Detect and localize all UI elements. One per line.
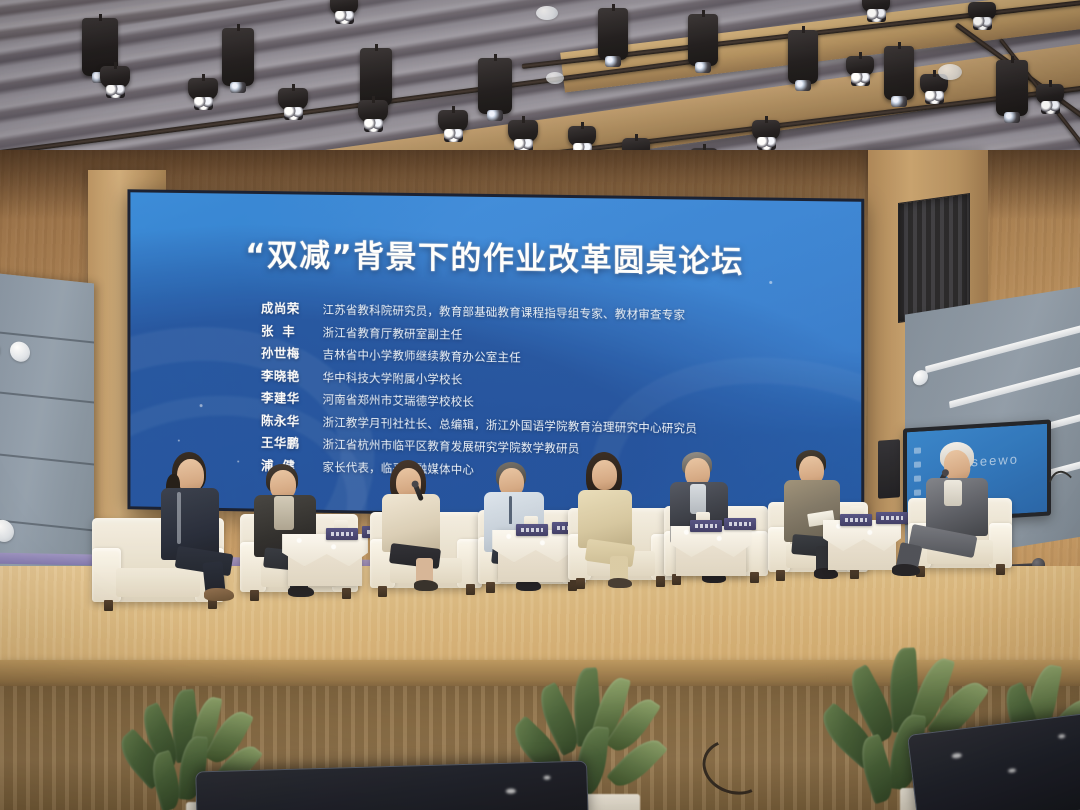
shoe [892, 564, 920, 576]
panelist-figure-1 [150, 452, 246, 604]
chair-foot [342, 588, 351, 599]
stage-light-moving-head [360, 48, 392, 106]
stage-light-par [846, 56, 874, 78]
acoustic-strip [949, 362, 1080, 408]
stage-light-moving-head [222, 28, 254, 86]
stage-light-moving-head [788, 30, 818, 84]
panelist-figure-3 [374, 460, 466, 596]
desktop-icon [914, 461, 921, 467]
side-table [288, 534, 362, 586]
name-card [724, 518, 756, 530]
panelist-name: 陈永华 [261, 410, 323, 430]
jacket-stripe [177, 492, 181, 544]
name-card [326, 528, 358, 540]
shirt-collar [274, 496, 294, 530]
stage-light-par [568, 126, 596, 148]
stage-light-moving-head [884, 46, 914, 100]
shoe [608, 578, 632, 588]
desktop-icon [914, 447, 921, 453]
panelist-affiliation: 华中科技大学附属小学校长 [323, 369, 463, 387]
desktop-icon [914, 475, 921, 481]
panelist-affiliation: 浙江省杭州市临平区教育发展研究学院数学教研员 [323, 436, 580, 456]
torso [382, 494, 440, 552]
panelist-affiliation: 江苏省教科院研究员，教育部基础教育课程指导组专家、教材审查专家 [323, 301, 686, 322]
shoe [414, 580, 438, 591]
side-table [828, 520, 896, 570]
stage-light-par [188, 78, 218, 102]
panelist-affiliation: 河南省郑州市艾瑞德学校校长 [323, 391, 475, 409]
acoustic-strip [925, 322, 1080, 373]
shoe [204, 588, 234, 601]
stage-light-moving-head [996, 60, 1028, 116]
chair-foot [466, 584, 475, 595]
stage-light-moving-head [598, 8, 628, 60]
stage-light-par [358, 100, 388, 124]
panelist-name: 孙世梅 [261, 342, 323, 362]
panelist-name: 成尚荣 [261, 298, 323, 318]
panelist-figure-8-speaking [922, 442, 1032, 576]
acoustic-disc [913, 369, 928, 386]
ceiling-downlight [546, 72, 564, 84]
panelist-name: 李建华 [261, 387, 323, 407]
stage-light-par [862, 0, 890, 14]
side-table [676, 526, 746, 576]
stage-light-par [508, 120, 538, 144]
wall-vent-grille [898, 193, 970, 323]
ceiling-downlight [536, 6, 558, 20]
wall-speaker [878, 439, 900, 499]
panelist-affiliation: 吉林省中小学教师继续教育办公室主任 [323, 346, 521, 365]
torso [578, 490, 632, 548]
lanyard [509, 496, 512, 524]
panelist-name: 王华鹏 [261, 432, 323, 452]
ceiling-downlight [938, 64, 962, 80]
desktop-icon [914, 489, 921, 495]
name-card [690, 520, 722, 532]
panelist-name: 张丰 [261, 320, 323, 340]
head [592, 460, 617, 490]
name-card [876, 512, 908, 524]
stage-light-par [330, 0, 358, 16]
name-card [516, 524, 548, 536]
stage-light-par [100, 66, 130, 90]
stage-light-par [438, 110, 468, 134]
panelist-figure-5 [570, 452, 660, 588]
panelist-name: 李晓艳 [261, 365, 323, 385]
name-card [840, 514, 872, 526]
led-sparkle [200, 404, 203, 407]
stage-light-par [1036, 84, 1064, 106]
stage-photo: “双减”背景下的作业改革圆桌论坛 成尚荣 江苏省教科院研究员，教育部基础教育课程… [0, 0, 1080, 810]
stage-light-moving-head [478, 58, 512, 114]
panelist-affiliation: 浙江教学月刊社社长、总编辑，浙江外国语学院教育治理研究中心研究员 [323, 414, 698, 436]
shirt [944, 480, 962, 506]
chair-foot [104, 600, 113, 611]
stage-light-par [752, 120, 780, 142]
led-sparkle [178, 440, 180, 442]
acoustic-disc [10, 341, 30, 363]
stage-light-moving-head [688, 14, 718, 66]
panelist-affiliation: 浙江省教育厅教研室副主任 [323, 324, 463, 342]
stage-light-par [968, 2, 996, 22]
stage-light-par [278, 88, 308, 112]
shoe [288, 586, 314, 597]
plant-pot [582, 794, 640, 810]
side-table [498, 530, 570, 582]
